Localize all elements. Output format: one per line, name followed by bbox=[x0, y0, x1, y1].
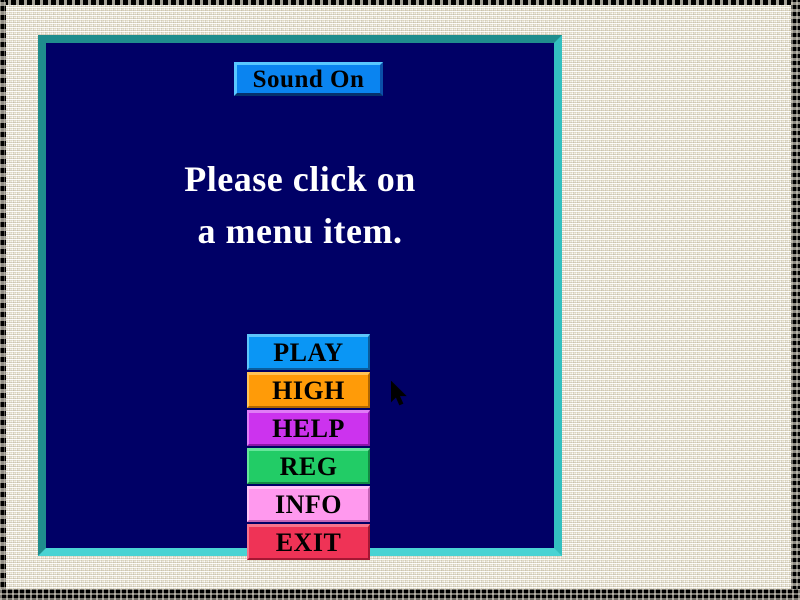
menu-item-label: HELP bbox=[272, 416, 345, 442]
menu-item-label: PLAY bbox=[273, 340, 343, 366]
screen-edge-top bbox=[0, 0, 800, 5]
menu-item-exit[interactable]: EXIT bbox=[247, 524, 370, 560]
prompt-line-2: a menu item. bbox=[46, 205, 554, 257]
menu-item-reg[interactable]: REG bbox=[247, 448, 370, 484]
screen-edge-right bbox=[791, 0, 800, 600]
game-panel-inner: Sound On Please click on a menu item. PL… bbox=[46, 43, 554, 548]
menu-item-label: REG bbox=[280, 454, 338, 480]
arrow-pointer-icon bbox=[391, 381, 411, 411]
sound-toggle-label: Sound On bbox=[253, 67, 365, 92]
menu-item-play[interactable]: PLAY bbox=[247, 334, 370, 370]
screen-edge-bottom bbox=[0, 589, 800, 600]
menu-item-info[interactable]: INFO bbox=[247, 486, 370, 522]
menu-item-label: HIGH bbox=[272, 378, 345, 404]
screen-edge-left bbox=[0, 0, 6, 600]
menu-item-high[interactable]: HIGH bbox=[247, 372, 370, 408]
application-screen: Sound On Please click on a menu item. PL… bbox=[0, 0, 800, 600]
prompt-message: Please click on a menu item. bbox=[46, 153, 554, 257]
prompt-line-1: Please click on bbox=[46, 153, 554, 205]
main-menu: PLAYHIGHHELPREGINFOEXIT bbox=[247, 334, 370, 562]
menu-item-help[interactable]: HELP bbox=[247, 410, 370, 446]
menu-item-label: EXIT bbox=[276, 530, 342, 556]
sound-toggle-button[interactable]: Sound On bbox=[234, 62, 383, 96]
game-panel: Sound On Please click on a menu item. PL… bbox=[38, 35, 562, 556]
menu-item-label: INFO bbox=[275, 492, 342, 518]
